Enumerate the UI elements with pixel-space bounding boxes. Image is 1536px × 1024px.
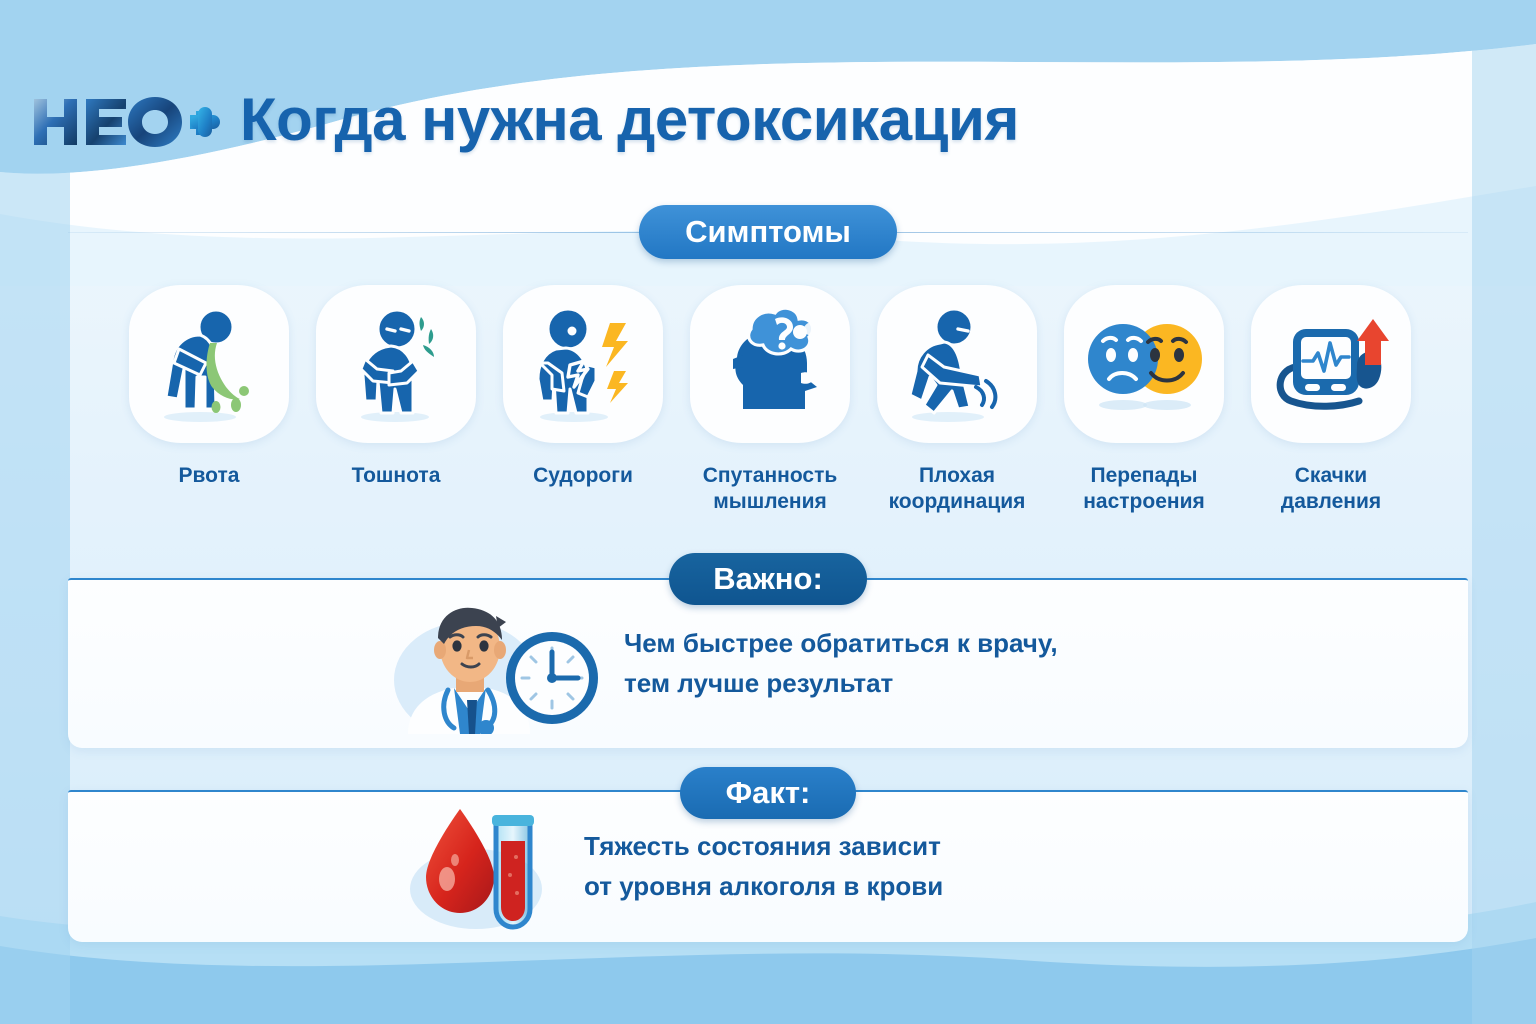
important-text-line-2: тем лучше результат	[624, 664, 1058, 704]
symptom-item-coordination[interactable]: Плохая координация	[868, 285, 1046, 514]
mood-swing-faces-icon	[1081, 305, 1207, 423]
symptoms-row: Рвота Тошно	[120, 285, 1420, 514]
symptom-card	[1064, 285, 1224, 443]
symptom-label: Плохая координация	[868, 463, 1046, 514]
fact-badge: Факт:	[680, 767, 857, 819]
important-badge: Важно:	[669, 553, 867, 605]
symptom-label: Судороги	[533, 463, 633, 489]
fact-text: Тяжесть состояния зависит от уровня алко…	[584, 827, 943, 906]
symptom-label: Перепады настроения	[1055, 463, 1233, 514]
symptom-label: Скачки давления	[1242, 463, 1420, 514]
cramps-person-icon	[522, 305, 644, 423]
symptom-label: Спутанность мышления	[681, 463, 859, 514]
important-illustration	[368, 594, 598, 734]
confused-head-icon	[707, 305, 833, 423]
symptom-card	[503, 285, 663, 443]
important-text: Чем быстрее обратиться к врачу, тем лучш…	[624, 624, 1058, 703]
symptom-item-nausea[interactable]: Тошнота	[307, 285, 485, 489]
vomiting-person-icon	[148, 305, 270, 423]
fact-text-line-1: Тяжесть состояния зависит	[584, 827, 943, 867]
symptom-card	[1251, 285, 1411, 443]
symptom-card	[877, 285, 1037, 443]
symptom-label: Рвота	[179, 463, 240, 489]
symptom-card	[690, 285, 850, 443]
stumbling-person-icon	[896, 305, 1018, 423]
symptom-item-confusion[interactable]: Спутанность мышления	[681, 285, 859, 514]
fact-text-line-2: от уровня алкоголя в крови	[584, 867, 943, 907]
nausea-person-icon	[335, 305, 457, 423]
symptom-item-cramps[interactable]: Судороги	[494, 285, 672, 489]
blood-drop-test-tube-icon	[398, 797, 568, 937]
doctor-with-clock-icon	[368, 594, 598, 734]
symptom-label: Тошнота	[352, 463, 441, 489]
blood-pressure-monitor-icon	[1269, 305, 1393, 423]
header: Когда нужна детоксикация	[0, 72, 1536, 168]
symptom-item-blood-pressure[interactable]: Скачки давления	[1242, 285, 1420, 514]
symptoms-badge: Симптомы	[639, 205, 897, 259]
symptoms-section-header: Симптомы	[68, 205, 1468, 259]
neo-plus-logo-icon	[30, 89, 220, 151]
page-title: Когда нужна детоксикация	[240, 90, 1019, 150]
symptom-card	[129, 285, 289, 443]
fact-illustration	[398, 797, 568, 937]
symptom-item-vomiting[interactable]: Рвота	[120, 285, 298, 489]
brand-logo[interactable]	[30, 89, 220, 151]
symptom-card	[316, 285, 476, 443]
important-text-line-1: Чем быстрее обратиться к врачу,	[624, 624, 1058, 664]
symptom-item-mood-swings[interactable]: Перепады настроения	[1055, 285, 1233, 514]
